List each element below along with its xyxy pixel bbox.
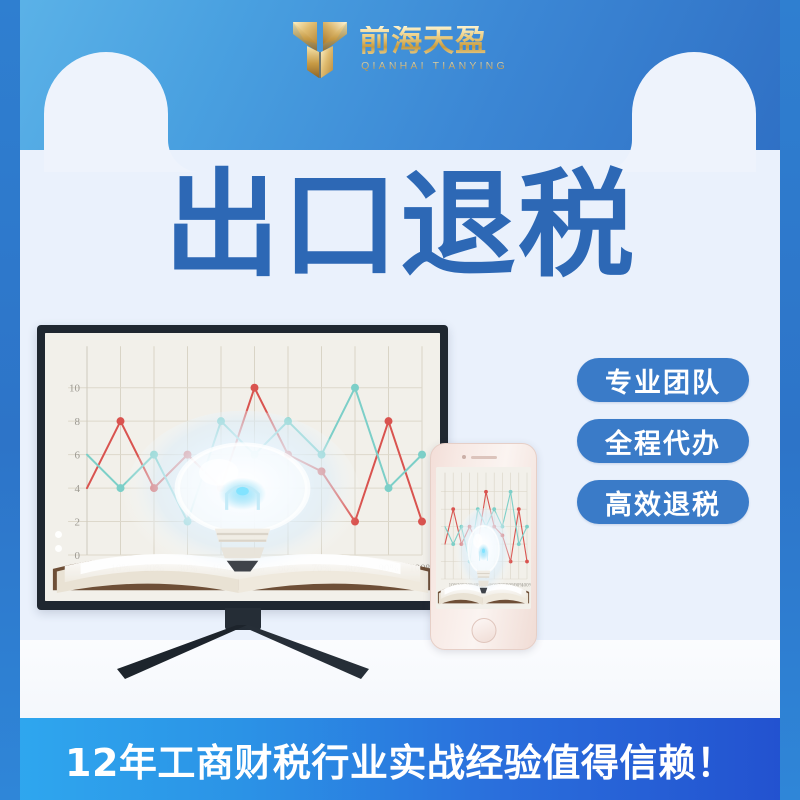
svg-text:100%: 100% xyxy=(521,584,531,589)
smartphone: 10%20%30%40%50%60%70%80%90%100% xyxy=(430,443,537,650)
brand-text: 前海天盈 QIANHAI TIANYING xyxy=(359,26,508,72)
svg-text:10: 10 xyxy=(69,383,81,395)
feature-badge-list: 专业团队 全程代办 高效退税 xyxy=(570,358,756,524)
feature-badge[interactable]: 全程代办 xyxy=(577,419,749,463)
monitor-stand-legs xyxy=(113,625,373,681)
device-scene: 024681010%20%30%40%50%60%70%80%90%100% xyxy=(20,300,565,680)
poster-root: 前海天盈 QIANHAI TIANYING 出口退税 专业团队 全程代办 高效退… xyxy=(0,0,800,800)
brand-logo: 前海天盈 QIANHAI TIANYING xyxy=(0,14,800,84)
monitor-bezel: 024681010%20%30%40%50%60%70%80%90%100% xyxy=(37,325,448,610)
left-edge-rail xyxy=(0,0,20,800)
svg-text:40%: 40% xyxy=(211,563,231,575)
svg-text:30%: 30% xyxy=(177,563,197,575)
page-title-text: 出口退税 xyxy=(164,168,636,284)
gold-chevron-logo-icon xyxy=(292,18,348,80)
svg-text:0: 0 xyxy=(75,550,81,562)
phone-home-button[interactable] xyxy=(471,618,496,643)
phone-earpiece-icon xyxy=(471,456,497,459)
line-chart: 024681010%20%30%40%50%60%70%80%90%100% xyxy=(45,333,440,601)
svg-text:90%: 90% xyxy=(378,563,398,575)
svg-text:50%: 50% xyxy=(244,563,264,575)
svg-text:10%: 10% xyxy=(110,563,130,575)
line-chart-mobile: 10%20%30%40%50%60%70%80%90%100% xyxy=(436,467,531,609)
phone-screen: 10%20%30%40%50%60%70%80%90%100% xyxy=(436,467,531,609)
svg-text:70%: 70% xyxy=(311,563,331,575)
desktop-monitor: 024681010%20%30%40%50%60%70%80%90%100% xyxy=(37,325,448,610)
bottom-banner: 12年工商财税行业实战经验值得信赖！ xyxy=(0,718,800,800)
right-edge-rail xyxy=(780,0,800,800)
svg-text:2: 2 xyxy=(75,516,81,528)
svg-text:4: 4 xyxy=(75,483,81,495)
svg-text:6: 6 xyxy=(75,449,81,461)
screen-indicator-dot xyxy=(55,531,62,538)
monitor-screen: 024681010%20%30%40%50%60%70%80%90%100% xyxy=(45,333,440,601)
svg-text:80%: 80% xyxy=(345,563,365,575)
phone-front-camera-icon xyxy=(462,455,466,459)
screen-indicator-dot xyxy=(55,545,62,552)
page-title: 出口退税 xyxy=(0,162,800,290)
feature-badge[interactable]: 专业团队 xyxy=(577,358,749,402)
svg-text:8: 8 xyxy=(75,416,81,428)
bottom-banner-text: 12年工商财税行业实战经验值得信赖！ xyxy=(65,732,735,787)
svg-text:60%: 60% xyxy=(278,563,298,575)
svg-text:20%: 20% xyxy=(144,563,164,575)
brand-name-cn: 前海天盈 xyxy=(359,26,487,57)
brand-name-en: QIANHAI TIANYING xyxy=(361,61,508,72)
feature-badge[interactable]: 高效退税 xyxy=(577,480,749,524)
